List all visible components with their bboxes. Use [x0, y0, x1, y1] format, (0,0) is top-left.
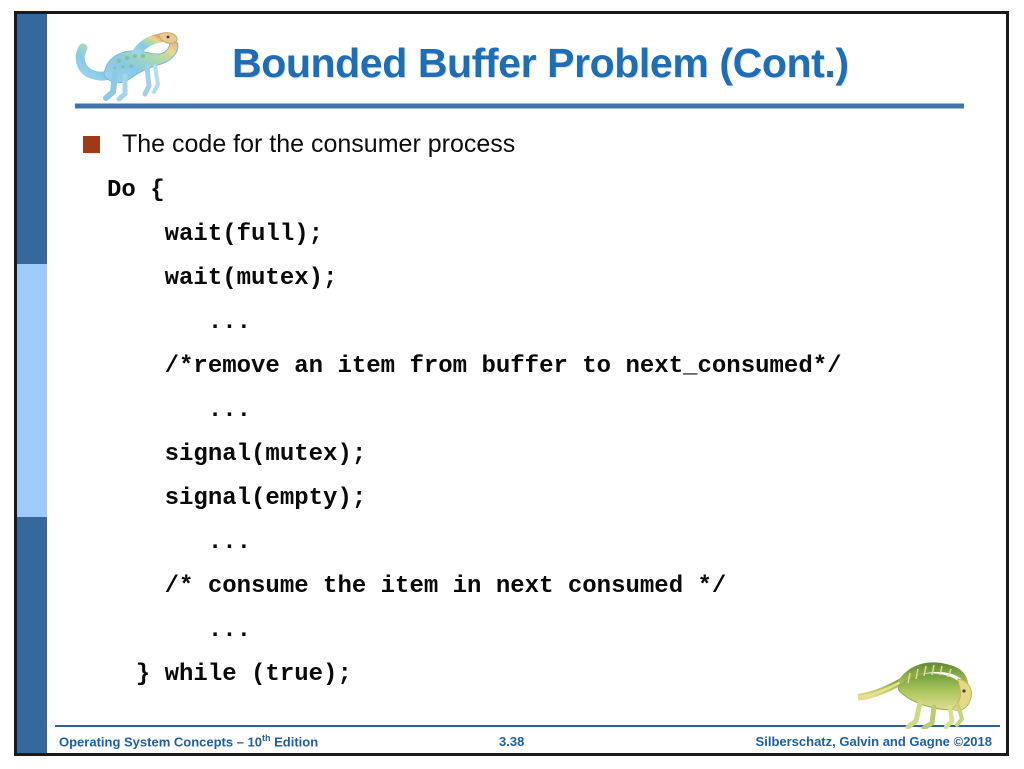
- footer-book-title-text: Operating System Concepts – 10: [59, 734, 262, 749]
- code-line: ...: [107, 389, 842, 433]
- footer-copyright: Silberschatz, Galvin and Gagne ©2018: [756, 734, 992, 749]
- code-line: signal(mutex);: [107, 433, 842, 477]
- code-line: wait(full);: [107, 213, 842, 257]
- code-listing: Do { wait(full); wait(mutex); ... /*remo…: [107, 169, 842, 697]
- code-line: signal(empty);: [107, 477, 842, 521]
- code-line: } while (true);: [107, 653, 842, 697]
- code-line: ...: [107, 521, 842, 565]
- bullet-item: The code for the consumer process: [83, 130, 515, 159]
- footer-book-title: Operating System Concepts – 10th Edition: [59, 733, 318, 749]
- slide-body: The code for the consumer process Do { w…: [47, 114, 1006, 707]
- footer-edition-suffix: Edition: [271, 734, 319, 749]
- code-line: ...: [107, 609, 842, 653]
- slide-frame: Bounded Buffer Problem (Cont.) The code …: [14, 11, 1009, 756]
- hadrosaur-dinosaur-icon: [75, 20, 183, 108]
- code-line: wait(mutex);: [107, 257, 842, 301]
- left-decorative-band: [17, 14, 47, 753]
- title-divider: [75, 103, 964, 109]
- footer-edition-superscript: th: [262, 733, 271, 743]
- bullet-item-label: The code for the consumer process: [122, 130, 515, 159]
- slide-header: Bounded Buffer Problem (Cont.): [47, 14, 1006, 114]
- code-line: /* consume the item in next consumed */: [107, 565, 842, 609]
- band-segment-top: [17, 14, 47, 264]
- bullet-square-icon: [83, 136, 100, 153]
- code-line: /*remove an item from buffer to next_con…: [107, 345, 842, 389]
- slide-number: 3.38: [499, 734, 524, 749]
- presentation-slide: Bounded Buffer Problem (Cont.) The code …: [0, 0, 1024, 769]
- spinosaurus-dinosaur-icon: [858, 651, 978, 729]
- band-segment-middle: [17, 264, 47, 517]
- band-segment-bottom: [17, 517, 47, 753]
- page-title: Bounded Buffer Problem (Cont.): [232, 40, 992, 87]
- code-line: Do {: [107, 169, 842, 213]
- code-line: ...: [107, 301, 842, 345]
